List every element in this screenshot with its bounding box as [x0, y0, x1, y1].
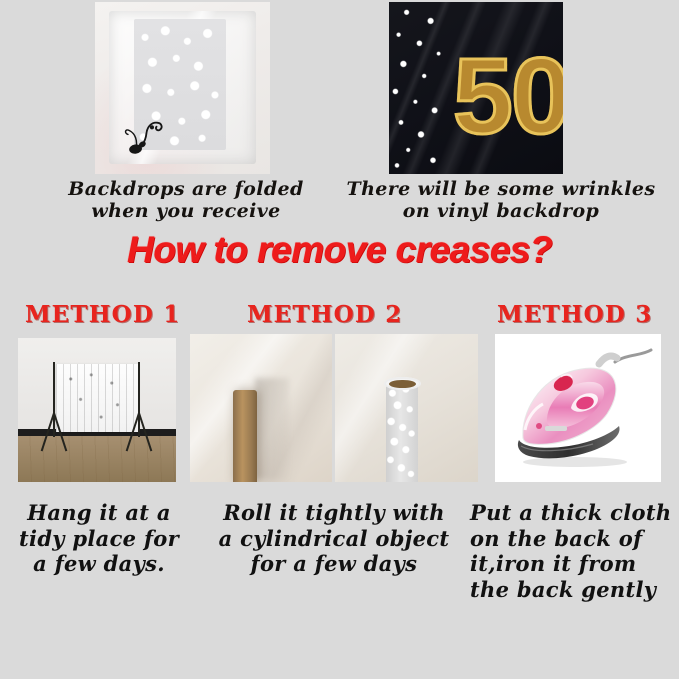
caption-line: on vinyl backdrop [336, 200, 666, 222]
black-floral-pattern-icon [114, 98, 184, 161]
caption-line: There will be some wrinkles [336, 178, 666, 200]
caption-line: a cylindrical object [192, 526, 476, 552]
method-1-caption: Hang it at a tidy place for a few days. [6, 500, 192, 577]
caption-line: tidy place for [6, 526, 192, 552]
caption-line: Put a thick cloth [470, 500, 679, 526]
gold-number-text: 50 [453, 50, 563, 142]
page-title: How to remove creases? [0, 229, 679, 271]
steam-iron-illustration [495, 334, 661, 482]
caption-line: when you receive [28, 200, 344, 222]
method-3-caption: Put a thick cloth on the back of it,iron… [470, 500, 679, 602]
indicator-light [536, 423, 542, 429]
tube-rim [384, 377, 421, 390]
brand-plate [545, 426, 567, 431]
wrinkled-backdrop-photo: 50 [389, 2, 563, 174]
caption-line: it,iron it from [470, 551, 679, 577]
method-1-heading: METHOD 1 [25, 301, 180, 328]
wrinkled-backdrop-caption: There will be some wrinkles on vinyl bac… [336, 178, 666, 223]
folded-backdrop-photo [95, 2, 270, 174]
method-3-heading: METHOD 3 [497, 301, 652, 328]
cardboard-tube-photo [190, 334, 332, 482]
caption-line: a few days. [6, 551, 192, 577]
steam-iron-photo [495, 334, 661, 482]
method-2-heading: METHOD 2 [247, 301, 402, 328]
caption-line: Hang it at a [6, 500, 192, 526]
instruction-infographic: 50 Backdrops are folded when you receive… [0, 0, 679, 679]
caption-line: Roll it tightly with [192, 500, 476, 526]
wood-floor [18, 433, 176, 482]
tube-shadow [255, 378, 289, 479]
caption-line: for a few days [192, 551, 476, 577]
caption-line: Backdrops are folded [28, 178, 344, 200]
stand-pole [138, 362, 140, 437]
power-cord [615, 350, 651, 362]
rolled-backdrop [386, 381, 417, 482]
drop-shadow [523, 457, 627, 467]
stand-pole [53, 362, 55, 437]
folded-backdrop-caption: Backdrops are folded when you receive [28, 178, 344, 223]
caption-line: on the back of [470, 526, 679, 552]
hanging-backdrop-cloth [56, 364, 138, 432]
method-2-caption: Roll it tightly with a cylindrical objec… [192, 500, 476, 577]
cardboard-tube [233, 390, 257, 482]
caption-line: the back gently [470, 577, 679, 603]
backdrop-stand-photo [18, 338, 176, 482]
rolled-backdrop-photo [335, 334, 478, 482]
